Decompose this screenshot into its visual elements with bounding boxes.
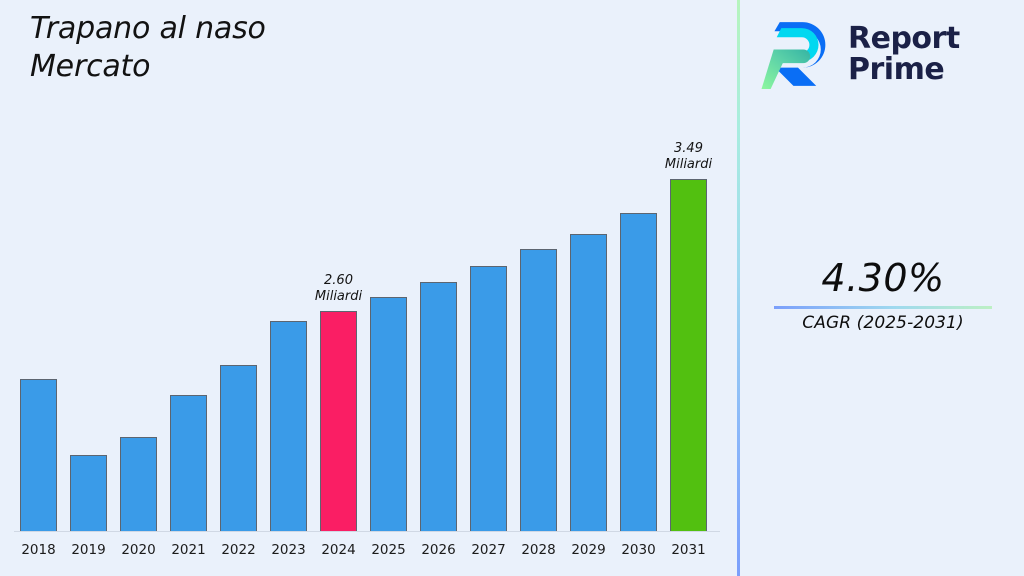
bar-2028[interactable]: [520, 249, 557, 531]
brand-name-line1: Report: [848, 23, 960, 54]
chart-page: Trapano al naso Mercato 2018201920202021…: [0, 0, 1024, 576]
x-tick-label-2018: 2018: [14, 542, 63, 558]
cagr-divider-rule: [774, 306, 992, 309]
brand-name-line2: Prime: [848, 54, 960, 85]
bar-value-label-2024: 2.60 Miliardi: [296, 273, 381, 305]
cagr-block: 4.30% CAGR (2025-2031): [758, 258, 1008, 333]
report-prime-r-logo-icon: [760, 16, 836, 92]
x-axis-baseline: [14, 531, 720, 532]
x-tick-label-2023: 2023: [264, 542, 313, 558]
bar-2022[interactable]: [220, 365, 257, 531]
bar-2020[interactable]: [120, 437, 157, 531]
bar-2023[interactable]: [270, 321, 307, 531]
bar-2021[interactable]: [170, 395, 207, 531]
x-tick-label-2031: 2031: [664, 542, 713, 558]
bar-2025[interactable]: [370, 297, 407, 531]
x-tick-label-2026: 2026: [414, 542, 463, 558]
chart-panel: Trapano al naso Mercato 2018201920202021…: [0, 0, 737, 576]
x-tick-label-2021: 2021: [164, 542, 213, 558]
cagr-caption: CAGR (2025-2031): [758, 313, 1008, 333]
x-tick-label-2022: 2022: [214, 542, 263, 558]
bar-2024[interactable]: [320, 311, 357, 531]
x-tick-label-2028: 2028: [514, 542, 563, 558]
bar-2018[interactable]: [20, 379, 57, 531]
x-tick-label-2020: 2020: [114, 542, 163, 558]
brand-wordmark: Report Prime: [848, 23, 960, 85]
bar-2029[interactable]: [570, 234, 607, 531]
bar-2027[interactable]: [470, 266, 507, 531]
brand-panel: Report Prime 4.30% CAGR (2025-2031): [740, 0, 1024, 576]
bar-2031[interactable]: [670, 179, 707, 531]
x-tick-label-2024: 2024: [314, 542, 363, 558]
x-tick-label-2029: 2029: [564, 542, 613, 558]
x-tick-label-2019: 2019: [64, 542, 113, 558]
cagr-value: 4.30%: [758, 258, 1008, 300]
x-tick-label-2025: 2025: [364, 542, 413, 558]
x-tick-label-2027: 2027: [464, 542, 513, 558]
bar-2030[interactable]: [620, 213, 657, 531]
bar-2026[interactable]: [420, 282, 457, 531]
bar-chart-plot: 2018201920202021202220232024202520262027…: [0, 0, 737, 576]
x-tick-label-2030: 2030: [614, 542, 663, 558]
bar-value-label-2031: 3.49 Miliardi: [646, 141, 731, 173]
bar-2019[interactable]: [70, 455, 107, 531]
brand-logo: Report Prime: [760, 8, 1010, 100]
